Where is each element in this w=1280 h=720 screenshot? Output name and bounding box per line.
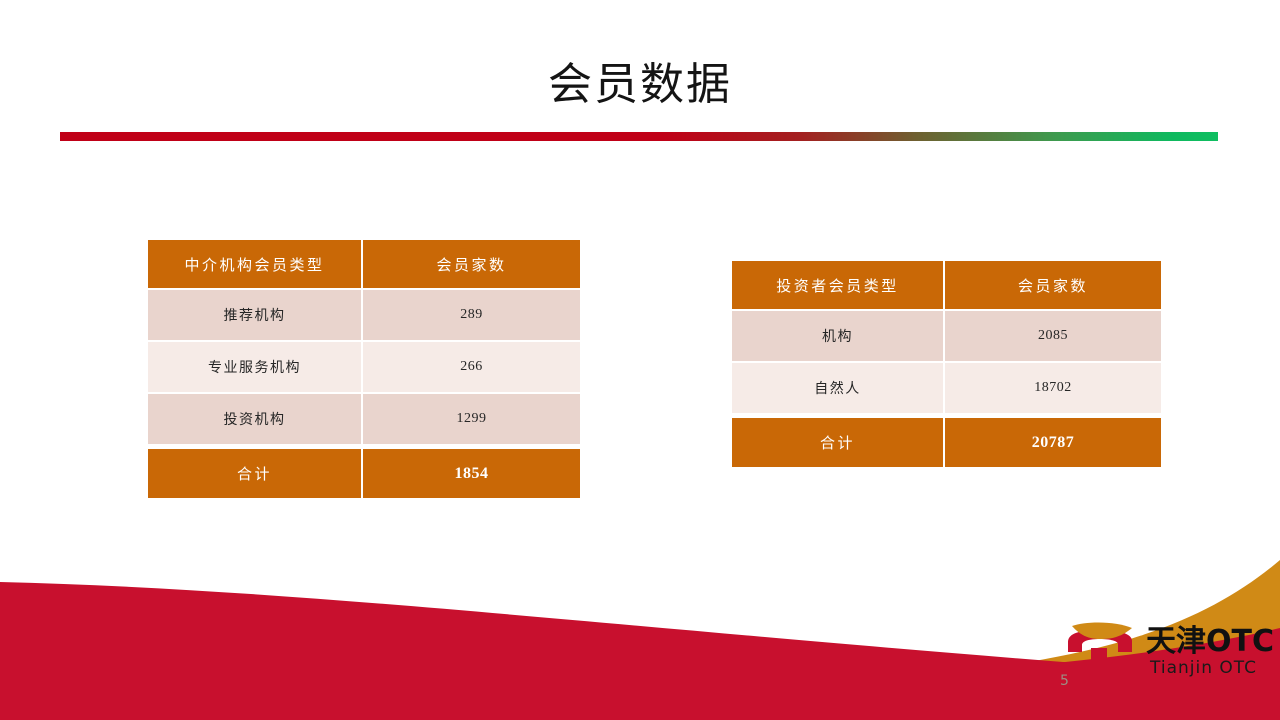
cell-member-count: 2085 bbox=[945, 311, 1161, 363]
column-header-count: 会员家数 bbox=[945, 261, 1161, 311]
title-divider-rule bbox=[60, 132, 1218, 141]
cell-member-type: 自然人 bbox=[732, 363, 945, 415]
column-header-type: 中介机构会员类型 bbox=[148, 240, 363, 290]
logo: 天津OTC Tianjin OTC bbox=[1062, 618, 1274, 690]
cell-member-count: 266 bbox=[363, 342, 580, 394]
logo-text-english: Tianjin OTC bbox=[1150, 659, 1257, 678]
logo-text-chinese: 天津OTC bbox=[1146, 626, 1274, 658]
table-intermediary-members: 中介机构会员类型 会员家数 推荐机构 289 专业服务机构 266 投资机构 1… bbox=[148, 240, 580, 500]
table-row: 自然人 18702 bbox=[732, 363, 1161, 415]
table-row: 专业服务机构 266 bbox=[148, 342, 580, 394]
cell-member-type: 机构 bbox=[732, 311, 945, 363]
cell-total-label: 合计 bbox=[148, 446, 363, 500]
tianjin-otc-mark-icon bbox=[1062, 622, 1138, 684]
page-number: 5 bbox=[1060, 673, 1069, 689]
table-row: 推荐机构 289 bbox=[148, 290, 580, 342]
cell-member-count: 289 bbox=[363, 290, 580, 342]
slide-canvas: 会员数据 中介机构会员类型 会员家数 推荐机构 289 专业服务机构 266 投… bbox=[0, 0, 1280, 720]
table-row: 投资机构 1299 bbox=[148, 394, 580, 446]
cell-member-type: 专业服务机构 bbox=[148, 342, 363, 394]
cell-total-label: 合计 bbox=[732, 415, 945, 469]
page-title: 会员数据 bbox=[0, 58, 1280, 112]
cell-total-value: 20787 bbox=[945, 415, 1161, 469]
table-header-row: 中介机构会员类型 会员家数 bbox=[148, 240, 580, 290]
cell-total-value: 1854 bbox=[363, 446, 580, 500]
table-row: 机构 2085 bbox=[732, 311, 1161, 363]
column-header-type: 投资者会员类型 bbox=[732, 261, 945, 311]
cell-member-type: 推荐机构 bbox=[148, 290, 363, 342]
cell-member-count: 18702 bbox=[945, 363, 1161, 415]
column-header-count: 会员家数 bbox=[363, 240, 580, 290]
table-total-row: 合计 1854 bbox=[148, 446, 580, 500]
table-total-row: 合计 20787 bbox=[732, 415, 1161, 469]
cell-member-type: 投资机构 bbox=[148, 394, 363, 446]
table-investor-members: 投资者会员类型 会员家数 机构 2085 自然人 18702 合计 20787 bbox=[732, 261, 1161, 469]
table-header-row: 投资者会员类型 会员家数 bbox=[732, 261, 1161, 311]
cell-member-count: 1299 bbox=[363, 394, 580, 446]
